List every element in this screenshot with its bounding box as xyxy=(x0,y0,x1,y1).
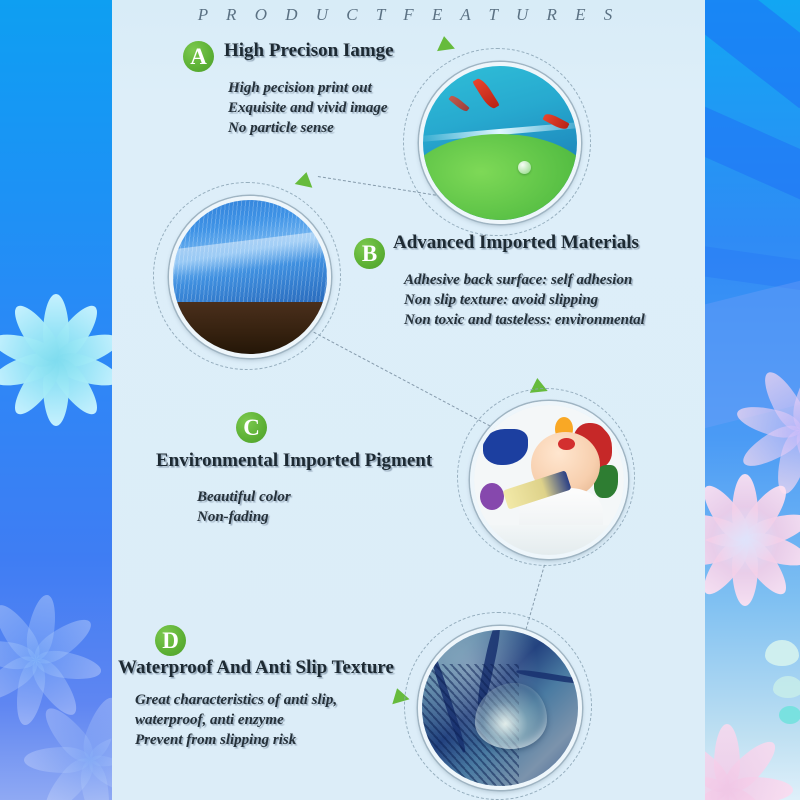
heading-c: Environmental Imported Pigment xyxy=(156,450,432,472)
lily-pad xyxy=(419,134,581,224)
facet-shape xyxy=(705,0,800,108)
description-line: Beautiful color xyxy=(197,487,291,507)
photo-waterproof-anti-slip xyxy=(418,626,582,790)
description-line: Exquisite and vivid image xyxy=(228,98,388,118)
badge-c: C xyxy=(236,412,267,443)
description-c: Beautiful color Non-fading xyxy=(197,487,291,527)
photo-high-precision-image xyxy=(419,62,581,224)
description-line: Non slip texture: avoid slipping xyxy=(404,290,645,310)
right-decorative-panel xyxy=(705,0,800,800)
badge-b: B xyxy=(354,238,385,269)
description-b: Adhesive back surface: self adhesion Non… xyxy=(404,270,645,330)
bud-shape xyxy=(773,676,800,698)
description-line: Great characteristics of anti slip, xyxy=(135,690,337,710)
paint-dot-forehead xyxy=(558,438,575,450)
description-a: High pecision print out Exquisite and vi… xyxy=(228,78,388,138)
description-line: Non-fading xyxy=(197,507,291,527)
description-d: Great characteristics of anti slip, wate… xyxy=(135,690,337,750)
photo-imported-materials xyxy=(169,196,331,358)
heading-d: Waterproof And Anti Slip Texture xyxy=(118,657,394,679)
product-features-poster: P R O D U C T F E A T U R E S A High Pre… xyxy=(0,0,800,800)
page-title: P R O D U C T F E A T U R E S xyxy=(112,5,705,25)
heading-b: Advanced Imported Materials xyxy=(393,232,639,254)
paint-floor xyxy=(474,525,624,555)
description-line: High pecision print out xyxy=(228,78,388,98)
bud-shape xyxy=(765,640,799,666)
description-line: Non toxic and tasteless: environmental xyxy=(404,310,645,330)
heading-a: High Precison Iamge xyxy=(224,40,394,62)
description-line: No particle sense xyxy=(228,118,388,138)
arrow-icon-to-photo-a xyxy=(435,35,455,51)
badge-d: D xyxy=(155,625,186,656)
description-line: waterproof, anti enzyme xyxy=(135,710,337,730)
description-line: Adhesive back surface: self adhesion xyxy=(404,270,645,290)
bud-shape xyxy=(779,706,800,724)
badge-a: A xyxy=(183,41,214,72)
left-decorative-panel xyxy=(0,0,112,800)
table-surface xyxy=(173,302,327,354)
paint-splatter xyxy=(480,483,504,510)
photo-environmental-pigment xyxy=(470,401,628,559)
description-line: Prevent from slipping risk xyxy=(135,730,337,750)
